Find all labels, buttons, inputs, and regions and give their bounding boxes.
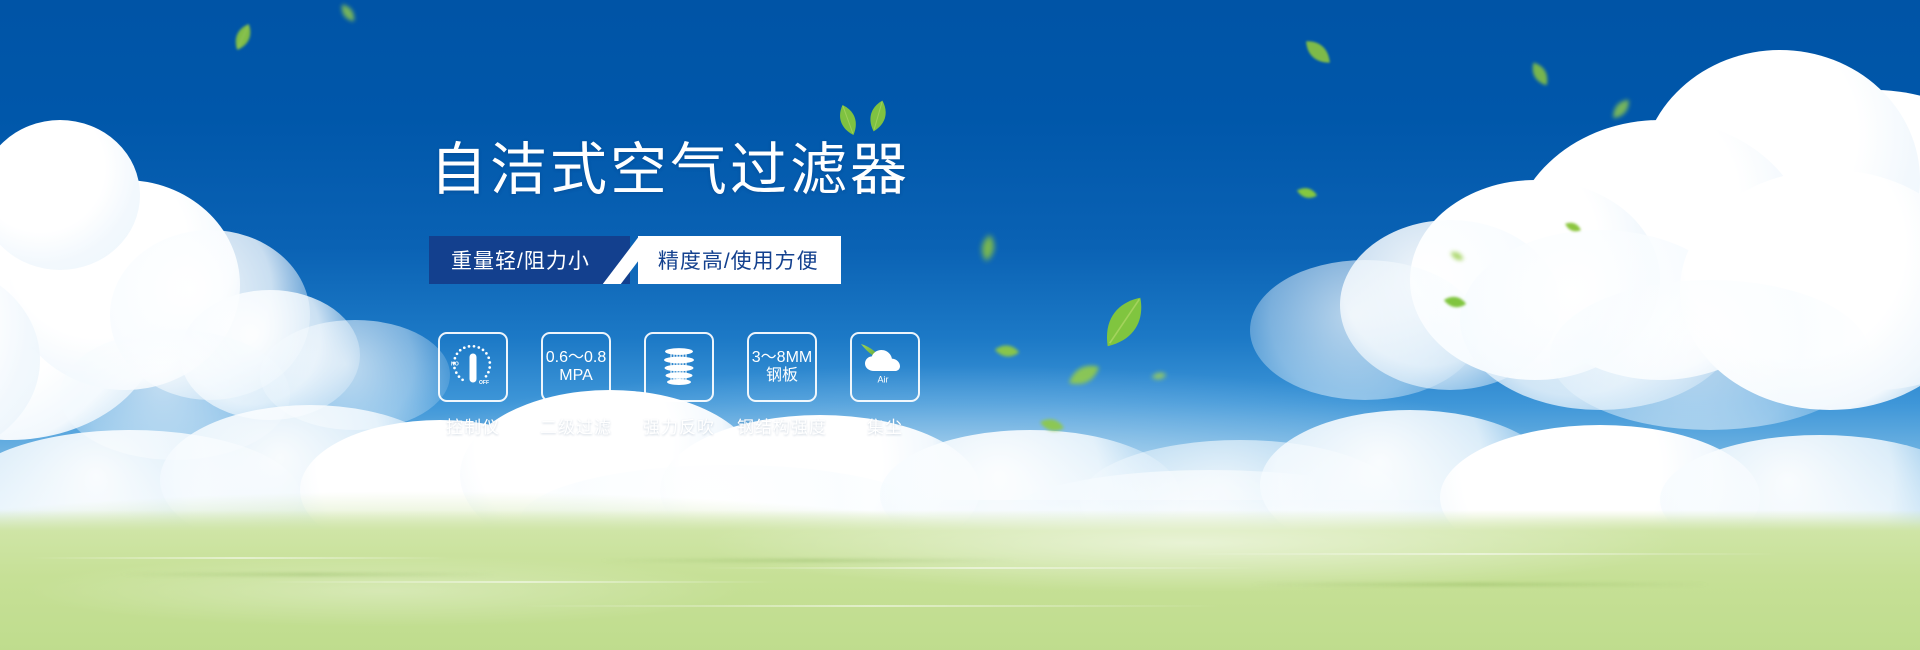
feature-box xyxy=(644,332,714,402)
feature-box: 3～8MM 钢板 xyxy=(747,332,817,402)
pressure-line-1: 0.6～0.8 xyxy=(546,349,607,366)
feature-label: 强力反吹 xyxy=(643,413,715,438)
feature-badge: 重量轻/阻力小 精度高/使用方便 xyxy=(429,236,841,284)
feature-box: 0.6～0.8 MPA xyxy=(541,332,611,402)
air-label: Air xyxy=(878,375,889,385)
product-banner: 自洁式空气过滤器 重量轻/阻力小 精度高/使用方便 xyxy=(0,0,1920,650)
gauge-controller-icon: NO OFF xyxy=(443,337,503,397)
steel-line-1: 3～8MM xyxy=(752,349,812,366)
gauge-off-label: OFF xyxy=(479,380,489,386)
banner-content: 自洁式空气过滤器 重量轻/阻力小 精度高/使用方便 xyxy=(0,0,1920,650)
feature-box: NO OFF xyxy=(438,332,508,402)
feature-label: 钢结构强度 xyxy=(737,413,827,438)
feature-item-backblow: 强力反吹 xyxy=(644,332,714,438)
gauge-on-label: NO xyxy=(451,362,459,368)
feature-box: Air xyxy=(850,332,920,402)
badge-right-text: 精度高/使用方便 xyxy=(638,236,841,284)
pressure-text-icon: 0.6～0.8 MPA xyxy=(546,349,607,385)
page-title: 自洁式空气过滤器 xyxy=(430,124,910,206)
feature-item-filtration: 0.6～0.8 MPA 二级过滤 xyxy=(541,332,611,438)
pleated-filter-icon xyxy=(649,337,709,397)
feature-label: 控制仪 xyxy=(446,413,500,438)
badge-left-text: 重量轻/阻力小 xyxy=(429,236,630,284)
cloud-air-icon: Air xyxy=(855,337,915,397)
steel-plate-text-icon: 3～8MM 钢板 xyxy=(752,349,812,385)
feature-label: 集尘 xyxy=(867,413,903,438)
feature-item-dust-collection: Air 集尘 xyxy=(850,332,920,438)
steel-line-2: 钢板 xyxy=(752,367,812,385)
feature-label: 二级过滤 xyxy=(540,413,612,438)
feature-item-controller: NO OFF 控制仪 xyxy=(438,332,508,438)
feature-icon-list: NO OFF 控制仪 0.6～0.8 MPA 二级过滤 xyxy=(438,332,920,438)
feature-item-steel-strength: 3～8MM 钢板 钢结构强度 xyxy=(747,332,817,438)
pressure-line-2: MPA xyxy=(546,367,607,385)
